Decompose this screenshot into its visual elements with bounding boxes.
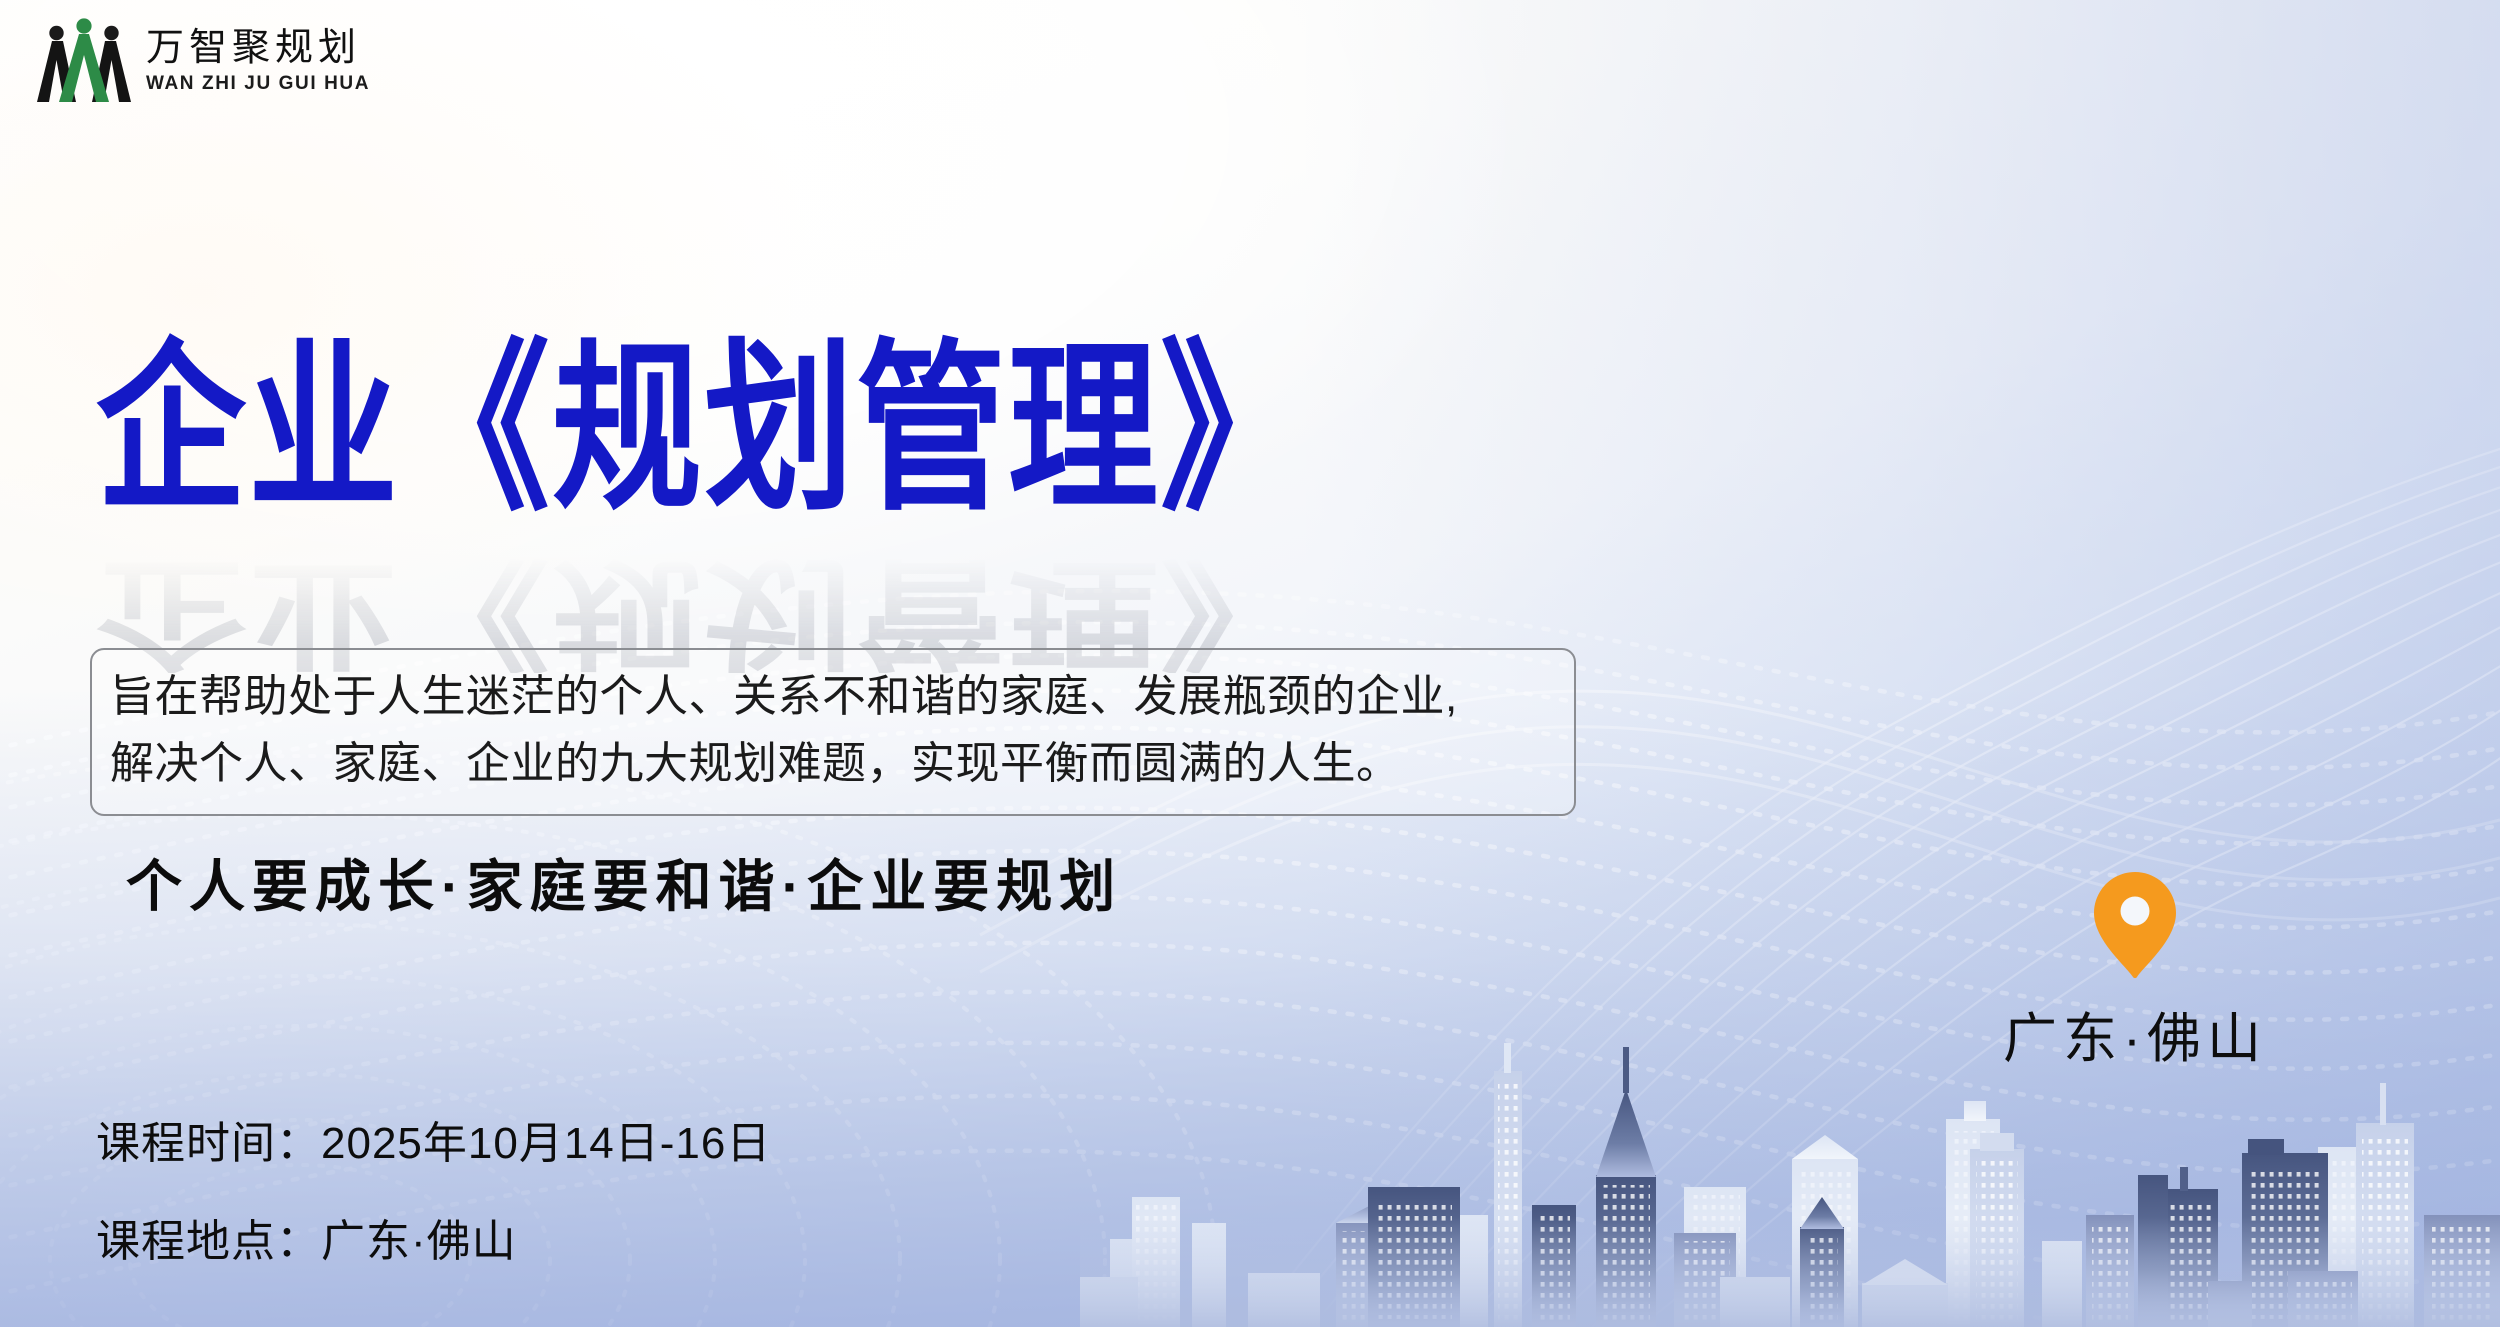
course-poster: 万智聚规划 WAN ZHI JU GUI HUA 企业《规划管理》 企业《规划管… [0,0,2500,1327]
slogan-text: 个人要成长·家庭要和谐·企业要规划 [126,842,1122,923]
description-line-2: 解决个人、家庭、企业的九大规划难题，实现平衡而圆满的人生。 [110,731,1556,798]
course-venue: 课程地点：广东·佛山 [96,1205,771,1269]
brand-logo: 万智聚规划 WAN ZHI JU GUI HUA [36,16,370,108]
brand-name-pinyin: WAN ZHI JU GUI HUA [146,73,370,95]
location-label: 广东·佛山 [1955,994,2315,1073]
brand-name-cn: 万智聚规划 [146,29,370,69]
page-title: 企业《规划管理》 [96,336,1616,523]
course-info: 课程时间：2025年10月14日-16日 课程地点：广东·佛山 [96,1107,771,1269]
description-box: 旨在帮助处于人生迷茫的个人、关系不和谐的家庭、发展瓶颈的企业, 解决个人、家庭、… [90,648,1576,816]
course-schedule: 课程时间：2025年10月14日-16日 [96,1107,771,1171]
map-pin-icon [2092,870,2178,980]
three-people-m-logo-icon [36,16,132,108]
location-badge: 广东·佛山 [1955,870,2315,1073]
brand-logo-text: 万智聚规划 WAN ZHI JU GUI HUA [146,29,370,95]
description-line-1: 旨在帮助处于人生迷茫的个人、关系不和谐的家庭、发展瓶颈的企业, [110,664,1556,731]
